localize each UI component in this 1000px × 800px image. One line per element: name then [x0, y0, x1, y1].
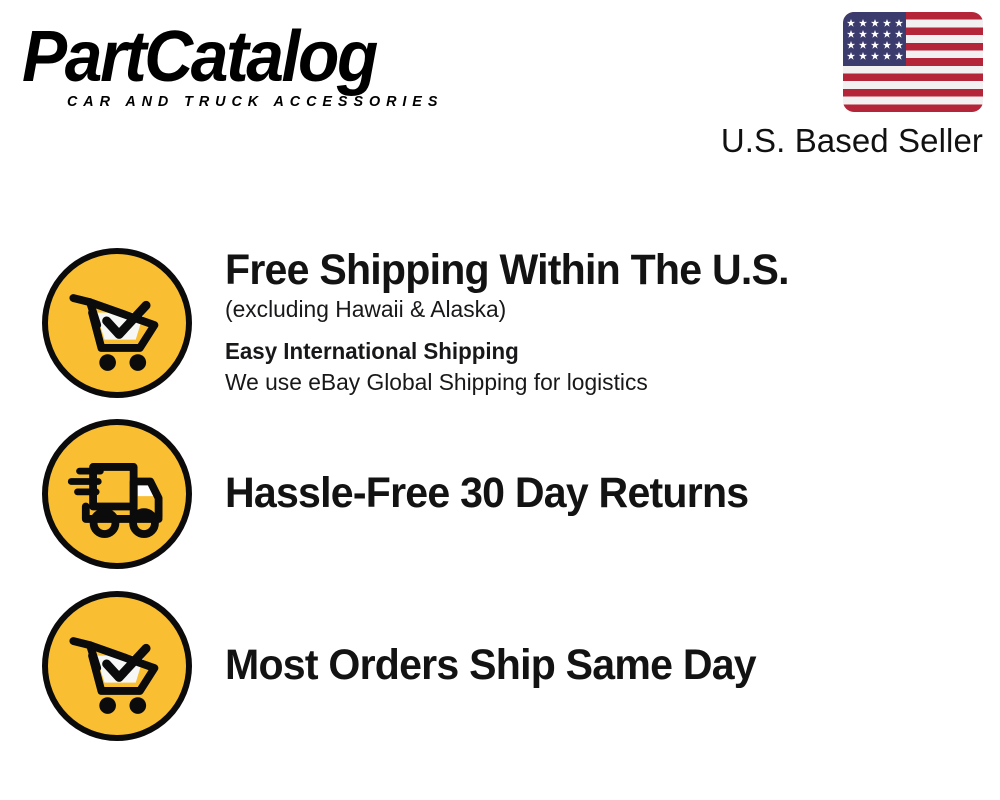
shopping-cart-check-icon	[42, 591, 192, 741]
logo-wordmark: PartCatalog	[22, 22, 464, 93]
us-based-seller-badge: U.S. Based Seller	[713, 12, 983, 159]
feature-text: Most Orders Ship Same Day	[225, 643, 1000, 689]
feature-subtitle: (excluding Hawaii & Alaska)	[225, 294, 957, 325]
feature-row: Free Shipping Within The U.S. (excluding…	[0, 247, 1000, 399]
shopping-cart-check-icon	[42, 248, 192, 398]
feature-title: Hassle-Free 30 Day Returns	[225, 471, 946, 517]
us-flag-icon	[843, 12, 983, 112]
brand-logo[interactable]: PartCatalog CAR AND TRUCK ACCESSORIES	[22, 22, 492, 110]
feature-title: Free Shipping Within The U.S.	[225, 248, 946, 294]
feature-row: Most Orders Ship Same Day	[0, 590, 1000, 742]
us-based-seller-label: U.S. Based Seller	[713, 123, 983, 159]
feature-subtitle-strong: Easy International Shipping	[225, 336, 957, 366]
feature-subtitle-detail: We use eBay Global Shipping for logistic…	[225, 367, 957, 398]
feature-title: Most Orders Ship Same Day	[225, 643, 946, 689]
feature-row: Hassle-Free 30 Day Returns	[0, 418, 1000, 570]
flag-canton	[843, 12, 906, 66]
logo-tagline: CAR AND TRUCK ACCESSORIES	[67, 94, 488, 110]
feature-text: Hassle-Free 30 Day Returns	[225, 471, 1000, 517]
page-header: PartCatalog CAR AND TRUCK ACCESSORIES	[0, 0, 1000, 175]
feature-text: Free Shipping Within The U.S. (excluding…	[225, 248, 1000, 399]
delivery-truck-icon	[42, 419, 192, 569]
